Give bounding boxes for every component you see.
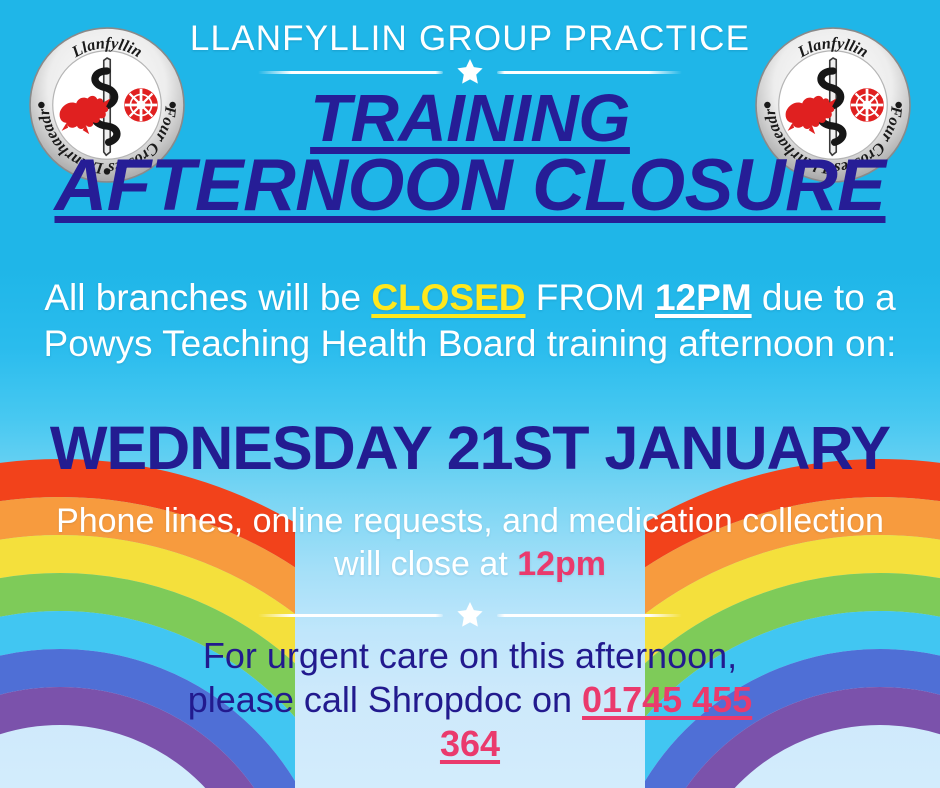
closure-date: WEDNESDAY 21ST JANUARY	[0, 416, 940, 480]
divider-line-right	[497, 614, 682, 617]
services-text-part1: Phone lines, online requests, and medica…	[56, 502, 884, 583]
urgent-care-text: For urgent care on this afternoon, pleas…	[0, 634, 940, 766]
divider-line-left	[258, 71, 443, 74]
headline-line-2: AFTERNOON CLOSURE	[0, 151, 940, 222]
headline-line-1: TRAINING	[0, 86, 940, 151]
headline: TRAINING AFTERNOON CLOSURE	[0, 86, 940, 222]
divider-bottom	[230, 600, 710, 630]
closure-text-part1: All branches will be	[44, 277, 371, 318]
services-closing-text: Phone lines, online requests, and medica…	[0, 500, 940, 586]
poster-canvas: Llanfyllin Four Crosses Llanrhaeadr	[0, 0, 940, 788]
services-close-time: 12pm	[517, 545, 606, 583]
star-icon	[455, 600, 485, 630]
closure-notice-text: All branches will be CLOSED FROM 12PM du…	[0, 275, 940, 367]
closure-text-part2: FROM	[526, 277, 655, 318]
divider-line-right	[497, 71, 682, 74]
page-title: LLANFYLLIN GROUP PRACTICE	[0, 20, 940, 59]
divider-line-left	[258, 614, 443, 617]
closed-highlight: CLOSED	[371, 277, 525, 318]
closure-time-highlight: 12PM	[655, 277, 752, 318]
